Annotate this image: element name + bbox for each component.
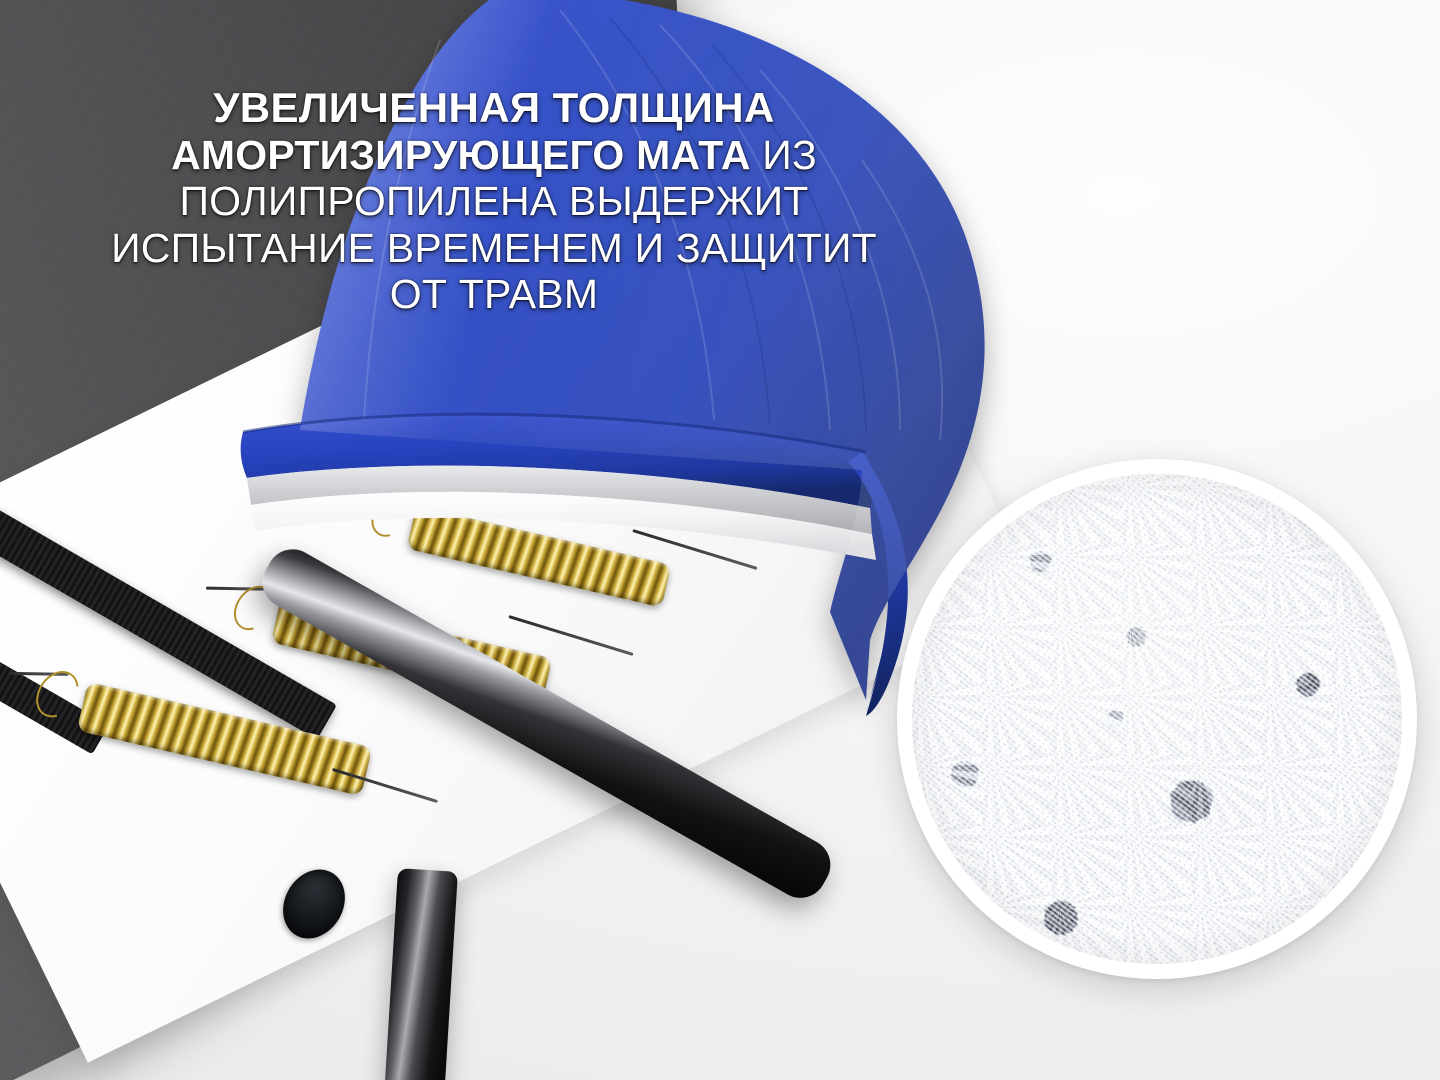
spring-coil-top <box>406 506 671 608</box>
headline-line-2: АМОРТИЗИРУЮЩЕГО МАТА ИЗ <box>0 132 988 179</box>
headline-line-3: ПОЛИПРОПИЛЕНА ВЫДЕРЖИТ <box>0 178 988 225</box>
headline-line-5: ОТ ТРАВМ <box>0 271 988 318</box>
foam-closeup-photo <box>912 474 1402 964</box>
headline-block: УВЕЛИЧЕННАЯ ТОЛЩИНА АМОРТИЗИРУЮЩЕГО МАТА… <box>0 84 988 318</box>
spring-coil-bottom <box>77 682 373 796</box>
foam-structure-closeup[interactable] <box>897 459 1417 979</box>
headline-line-2-bold: АМОРТИЗИРУЮЩЕГО МАТА <box>171 132 751 178</box>
infographic-canvas: УВЕЛИЧЕННАЯ ТОЛЩИНА АМОРТИЗИРУЮЩЕГО МАТА… <box>0 0 1440 1080</box>
headline-line-1: УВЕЛИЧЕННАЯ ТОЛЩИНА <box>0 84 988 132</box>
foam-vignette <box>912 474 1402 964</box>
spring-bottom <box>1 661 375 803</box>
frame-leg <box>385 868 458 1080</box>
headline-line-2-light: ИЗ <box>762 132 817 178</box>
spring-top <box>339 487 672 612</box>
headline-line-4: ИСПЫТАНИЕ ВРЕМЕНЕМ И ЗАЩИТИТ <box>0 225 988 272</box>
